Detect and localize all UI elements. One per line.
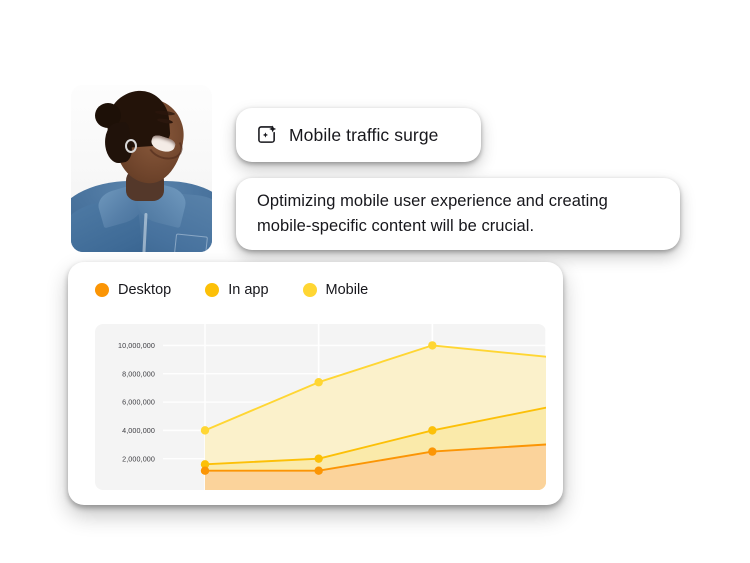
y-axis-tick-label: 6,000,000: [122, 398, 155, 407]
sparkle-square-icon: [256, 124, 278, 146]
traffic-chart-card: Desktop In app Mobile 2,000,0004,000,000…: [68, 262, 563, 505]
chart-ytick-labels: 2,000,0004,000,0006,000,0008,000,00010,0…: [118, 341, 155, 463]
avatar-photo: [71, 85, 212, 252]
legend-label-mobile: Mobile: [326, 282, 369, 298]
chart-data-point[interactable]: [314, 378, 322, 386]
chart-data-point[interactable]: [428, 341, 436, 349]
chart-data-point[interactable]: [314, 454, 322, 462]
chart-data-point[interactable]: [428, 426, 436, 434]
legend-label-desktop: Desktop: [118, 282, 171, 298]
scene: Mobile traffic surge Optimizing mobile u…: [0, 0, 750, 563]
photo-shirt-pocket: [174, 233, 208, 252]
insight-title-text: Mobile traffic surge: [289, 125, 439, 146]
y-axis-tick-label: 4,000,000: [122, 426, 155, 435]
legend-dot-mobile: [303, 283, 317, 297]
insight-body-bubble[interactable]: Optimizing mobile user experience and cr…: [236, 178, 680, 250]
chart-data-point[interactable]: [201, 467, 209, 475]
legend-dot-desktop: [95, 283, 109, 297]
chart-legend: Desktop In app Mobile: [95, 282, 368, 298]
photo-earring: [125, 139, 137, 153]
y-axis-tick-label: 8,000,000: [122, 369, 155, 378]
y-axis-tick-label: 2,000,000: [122, 454, 155, 463]
chart-plot-area: 2,000,0004,000,0006,000,0008,000,00010,0…: [95, 324, 546, 490]
y-axis-tick-label: 10,000,000: [118, 341, 155, 350]
legend-item-in-app[interactable]: In app: [205, 282, 268, 298]
chart-data-point[interactable]: [428, 447, 436, 455]
chart-svg: 2,000,0004,000,0006,000,0008,000,00010,0…: [95, 324, 546, 490]
legend-item-desktop[interactable]: Desktop: [95, 282, 171, 298]
chart-data-point[interactable]: [314, 467, 322, 475]
insight-body-text: Optimizing mobile user experience and cr…: [257, 189, 659, 239]
legend-item-mobile[interactable]: Mobile: [303, 282, 369, 298]
chart-data-point[interactable]: [201, 426, 209, 434]
insight-title-bubble[interactable]: Mobile traffic surge: [236, 108, 481, 162]
avatar-photo-card: [71, 85, 212, 252]
legend-dot-in-app: [205, 283, 219, 297]
legend-label-in-app: In app: [228, 282, 268, 298]
